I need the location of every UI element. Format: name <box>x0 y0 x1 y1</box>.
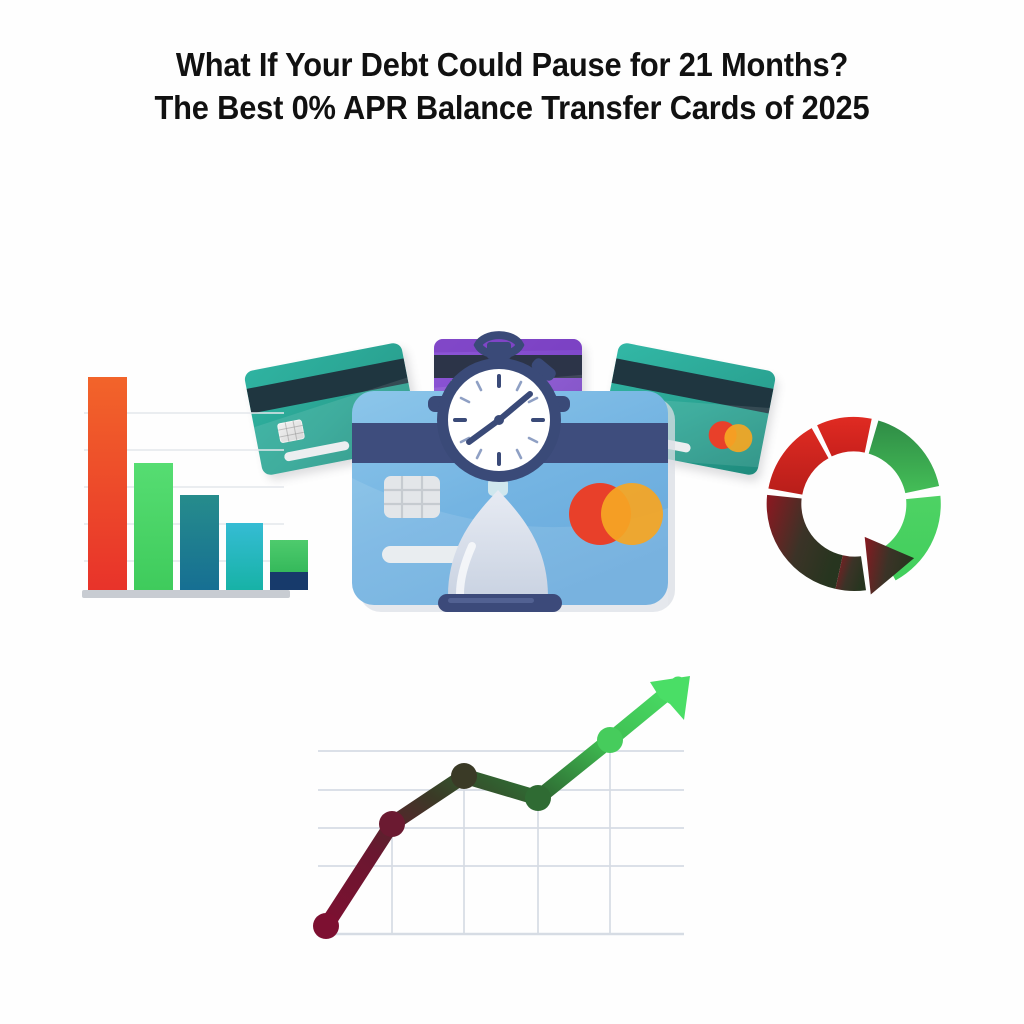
line-chart <box>292 676 708 964</box>
data-point-3 <box>451 763 477 789</box>
bar-5-bottom <box>270 572 308 590</box>
center-card-chip-icon <box>384 476 440 518</box>
center-card-mastercard-logo-icon <box>569 483 663 545</box>
donut-segment-red-upperleft <box>768 428 828 495</box>
line-chart-series <box>326 684 678 926</box>
center-graphic-svg <box>332 318 696 652</box>
donut-segment-red-top <box>817 417 872 456</box>
hourglass-credit-card-graphic <box>332 318 696 652</box>
bar-chart-baseline <box>82 590 290 598</box>
bar-4 <box>226 523 263 590</box>
page-title-line-2: The Best 0% APR Balance Transfer Cards o… <box>96 87 928 130</box>
bar-chart-svg <box>76 368 292 606</box>
bar-chart <box>76 368 292 606</box>
donut-chart <box>742 400 966 616</box>
donut-chart-svg <box>742 400 966 616</box>
stopwatch-center-pin <box>494 415 504 425</box>
donut-segments <box>767 417 941 595</box>
bar-1 <box>88 377 127 590</box>
bar-2 <box>134 463 173 590</box>
data-point-5 <box>597 727 623 753</box>
infographic-canvas: What If Your Debt Could Pause for 21 Mon… <box>0 0 1024 1024</box>
page-title-line-1: What If Your Debt Could Pause for 21 Mon… <box>96 44 928 87</box>
bar-5-stacked <box>270 540 308 590</box>
page-title: What If Your Debt Could Pause for 21 Mon… <box>0 44 1024 130</box>
data-point-1 <box>313 913 339 939</box>
donut-segment-green-upper <box>869 421 939 494</box>
bar-chart-bars <box>88 377 308 590</box>
bar-3 <box>180 495 219 590</box>
credit-cards-row <box>0 160 1024 330</box>
line-chart-svg <box>292 676 708 964</box>
data-point-4 <box>525 785 551 811</box>
donut-segment-arrow-arc <box>767 495 843 589</box>
data-point-2 <box>379 811 405 837</box>
bar-5-top <box>270 540 308 572</box>
